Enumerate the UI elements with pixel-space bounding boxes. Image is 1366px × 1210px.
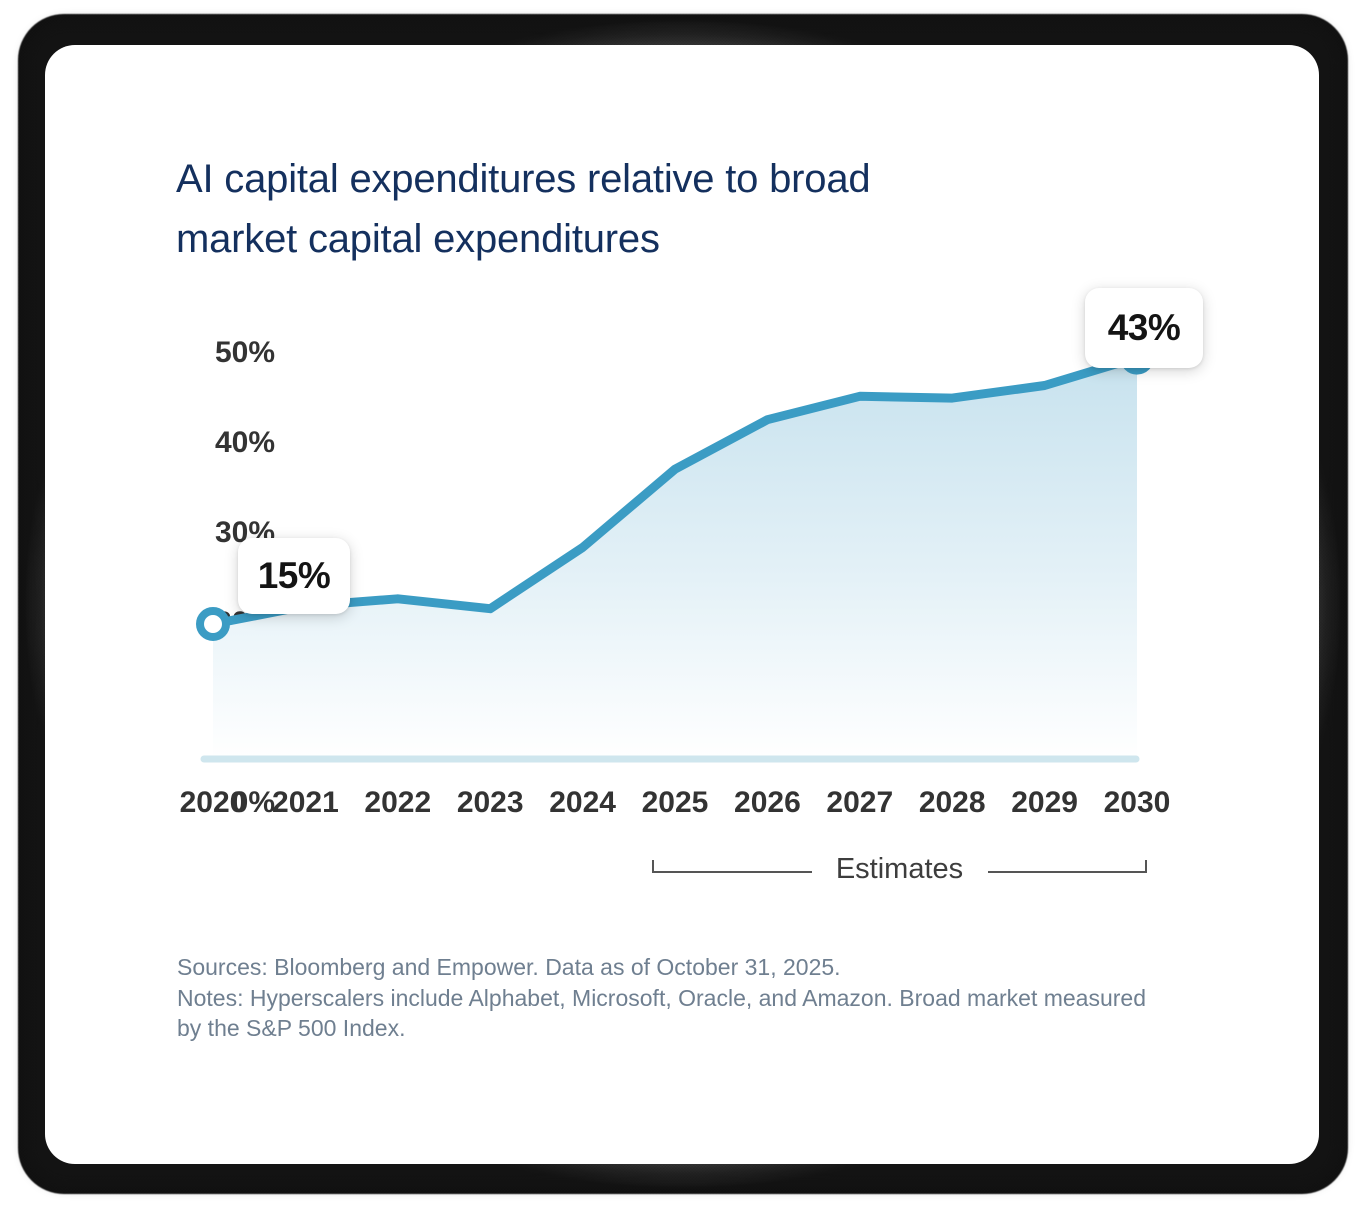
x-axis-tick-2030: 2030 bbox=[1104, 786, 1171, 820]
chart-footnotes: Sources: Bloomberg and Empower. Data as … bbox=[177, 952, 1177, 1044]
footnote-notes-line-1: Notes: Hyperscalers include Alphabet, Mi… bbox=[177, 983, 1177, 1014]
data-label-first-point: 15% bbox=[238, 538, 350, 614]
x-axis-tick-2020: 2020 bbox=[180, 786, 247, 820]
estimates-label: Estimates bbox=[430, 853, 1366, 886]
footnote-notes-line-2: by the S&P 500 Index. bbox=[177, 1013, 1177, 1044]
x-axis-tick-2027: 2027 bbox=[826, 786, 893, 820]
x-axis-tick-2028: 2028 bbox=[919, 786, 986, 820]
screenshot-root: AI capital expenditures relative to broa… bbox=[0, 0, 1366, 1210]
estimates-bracket-right-tick bbox=[1145, 860, 1147, 873]
x-axis-labels: 2020202120222023202420252026202720282029… bbox=[200, 786, 1140, 830]
x-axis-tick-2026: 2026 bbox=[734, 786, 801, 820]
estimates-bracket-right-line bbox=[988, 871, 1148, 873]
x-axis-tick-2023: 2023 bbox=[457, 786, 524, 820]
x-axis-tick-2021: 2021 bbox=[272, 786, 339, 820]
x-axis-tick-2025: 2025 bbox=[642, 786, 709, 820]
x-axis-tick-2024: 2024 bbox=[549, 786, 616, 820]
data-point-marker bbox=[200, 611, 226, 637]
footnote-sources: Sources: Bloomberg and Empower. Data as … bbox=[177, 952, 1177, 983]
estimates-bracket: Estimates bbox=[200, 840, 1140, 896]
x-axis-tick-2029: 2029 bbox=[1011, 786, 1078, 820]
area-fill bbox=[213, 358, 1137, 759]
x-axis-tick-2022: 2022 bbox=[364, 786, 431, 820]
page-title: AI capital expenditures relative to broa… bbox=[176, 149, 1036, 269]
data-label-last-point: 43% bbox=[1085, 288, 1203, 368]
